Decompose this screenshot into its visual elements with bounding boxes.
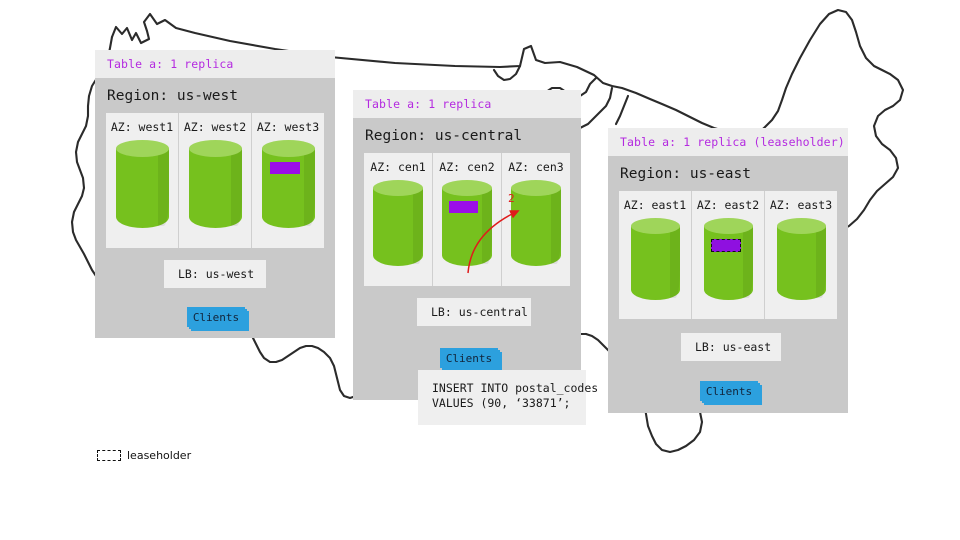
sql-statement-box: INSERT INTO postal_codes VALUES (90, ‘33… xyxy=(418,370,586,425)
az-label-cen1: AZ: cen1 xyxy=(364,160,432,174)
region-title-us-east: Region: us-east xyxy=(608,156,848,191)
replica-status-us-east: Table a: 1 replica (leaseholder) xyxy=(608,128,848,156)
cylinder-shading xyxy=(816,228,826,298)
clients-label-us-west: Clients xyxy=(187,307,245,327)
legend-leaseholder: leaseholder xyxy=(97,449,191,462)
region-body-us-east: Region: us-east AZ: east1 AZ: east2 xyxy=(608,156,848,413)
legend-label: leaseholder xyxy=(127,449,191,462)
az-strip-us-west: AZ: west1 AZ: west2 AZ xyxy=(106,113,324,248)
cylinder-shading xyxy=(743,228,753,298)
replica-bar-leaseholder-east2 xyxy=(711,239,741,252)
node-cylinder-cen3[interactable] xyxy=(511,180,561,266)
cylinder-shading xyxy=(304,150,315,226)
load-balancer-us-central[interactable]: LB: us-central xyxy=(417,298,531,326)
cylinder-top xyxy=(116,140,169,157)
node-cylinder-east1[interactable] xyxy=(631,218,680,300)
clients-label-us-central: Clients xyxy=(440,348,498,368)
az-cell-cen3[interactable]: AZ: cen3 xyxy=(502,153,570,286)
clients-us-east[interactable]: Clients xyxy=(700,381,762,403)
node-cylinder-west2[interactable] xyxy=(189,140,242,228)
clients-us-west[interactable]: Clients xyxy=(187,307,249,329)
az-cell-east1[interactable]: AZ: east1 xyxy=(619,191,692,319)
region-title-us-west: Region: us-west xyxy=(95,78,335,113)
az-strip-us-east: AZ: east1 AZ: east2 xyxy=(619,191,837,319)
region-panel-us-central: Table a: 1 replica Region: us-central AZ… xyxy=(353,90,581,400)
az-label-east3: AZ: east3 xyxy=(765,198,837,212)
arrow-step-number: 2 xyxy=(508,192,515,205)
cylinder-shading xyxy=(551,190,561,264)
az-label-east1: AZ: east1 xyxy=(619,198,691,212)
replica-status-us-west: Table a: 1 replica xyxy=(95,50,335,78)
node-cylinder-west3[interactable] xyxy=(262,140,315,228)
region-title-us-central: Region: us-central xyxy=(353,118,581,153)
az-cell-cen1[interactable]: AZ: cen1 xyxy=(364,153,433,286)
clients-label-us-east: Clients xyxy=(700,381,758,401)
replica-bar-west3 xyxy=(270,162,300,174)
cylinder-top xyxy=(373,180,423,196)
cylinder-top xyxy=(704,218,753,234)
cylinder-top xyxy=(442,180,492,196)
az-cell-east2[interactable]: AZ: east2 xyxy=(692,191,765,319)
node-cylinder-west1[interactable] xyxy=(116,140,169,228)
az-label-cen2: AZ: cen2 xyxy=(433,160,501,174)
region-body-us-west: Region: us-west AZ: west1 AZ: west2 xyxy=(95,78,335,338)
az-cell-east3[interactable]: AZ: east3 xyxy=(765,191,837,319)
az-label-west2: AZ: west2 xyxy=(179,120,251,134)
az-label-west3: AZ: west3 xyxy=(252,120,324,134)
az-label-cen3: AZ: cen3 xyxy=(502,160,570,174)
diagram-canvas: Table a: 1 replica Region: us-west AZ: w… xyxy=(0,0,960,540)
az-cell-west1[interactable]: AZ: west1 xyxy=(106,113,179,248)
node-cylinder-cen1[interactable] xyxy=(373,180,423,266)
replica-bar-cen2 xyxy=(449,201,478,213)
cylinder-top xyxy=(262,140,315,157)
az-label-west1: AZ: west1 xyxy=(106,120,178,134)
az-cell-west2[interactable]: AZ: west2 xyxy=(179,113,252,248)
load-balancer-us-west[interactable]: LB: us-west xyxy=(164,260,266,288)
az-label-east2: AZ: east2 xyxy=(692,198,764,212)
cylinder-shading xyxy=(413,190,423,264)
cylinder-top xyxy=(777,218,826,234)
dashed-rectangle-icon xyxy=(97,450,121,461)
node-cylinder-cen2[interactable] xyxy=(442,180,492,266)
cylinder-shading xyxy=(482,190,492,264)
cylinder-top xyxy=(189,140,242,157)
az-strip-us-central: AZ: cen1 AZ: cen2 xyxy=(364,153,570,286)
region-body-us-central: Region: us-central AZ: cen1 AZ: cen2 xyxy=(353,118,581,400)
cylinder-top xyxy=(631,218,680,234)
cylinder-shading xyxy=(231,150,242,226)
cylinder-shading xyxy=(670,228,680,298)
replica-status-us-central: Table a: 1 replica xyxy=(353,90,581,118)
az-cell-cen2[interactable]: AZ: cen2 xyxy=(433,153,502,286)
region-panel-us-east: Table a: 1 replica (leaseholder) Region:… xyxy=(608,128,848,413)
clients-us-central[interactable]: Clients xyxy=(440,348,502,370)
load-balancer-us-east[interactable]: LB: us-east xyxy=(681,333,781,361)
node-cylinder-east3[interactable] xyxy=(777,218,826,300)
az-cell-west3[interactable]: AZ: west3 xyxy=(252,113,324,248)
cylinder-top xyxy=(511,180,561,196)
region-panel-us-west: Table a: 1 replica Region: us-west AZ: w… xyxy=(95,50,335,338)
node-cylinder-east2[interactable] xyxy=(704,218,753,300)
cylinder-shading xyxy=(158,150,169,226)
